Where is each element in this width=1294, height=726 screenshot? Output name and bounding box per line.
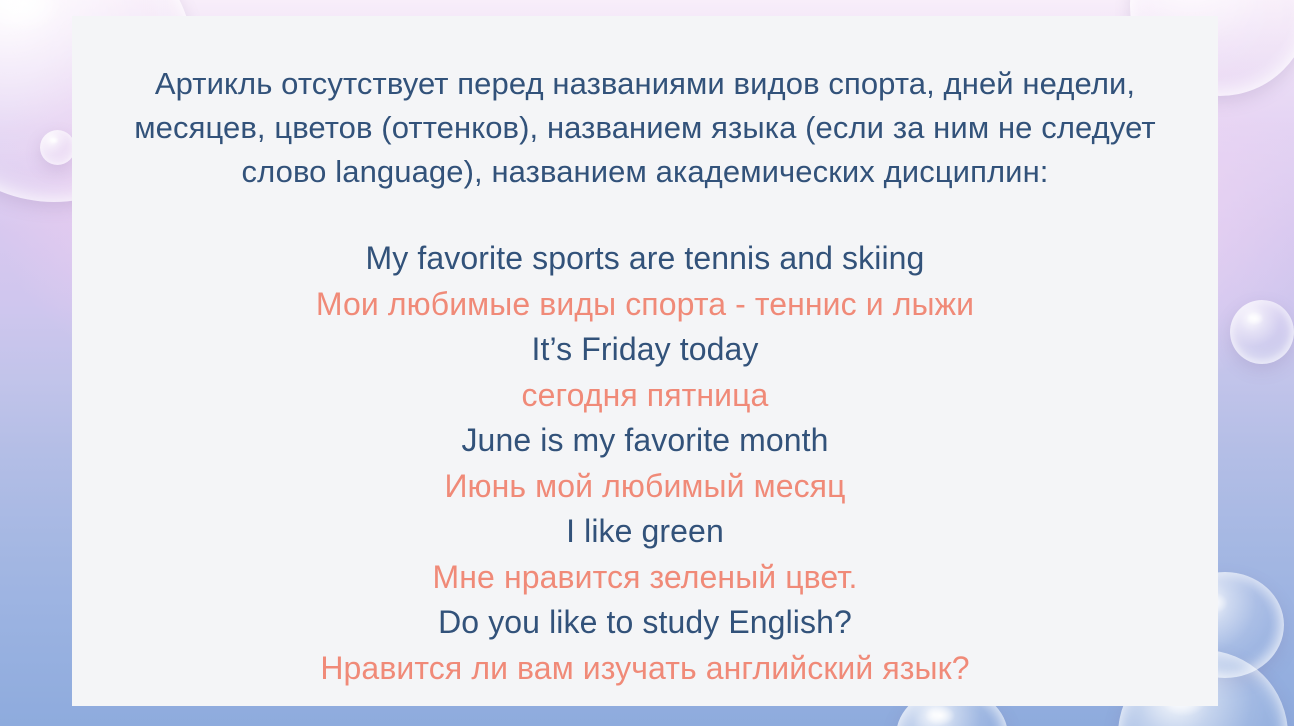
example-list: My favorite sports are tennis and skiing… [100,236,1190,691]
content-panel: Артикль отсутствует перед названиями вид… [72,16,1218,706]
example-line-russian: Июнь мой любимый месяц [100,464,1190,510]
heading-body-spacer [100,194,1190,236]
slide: Артикль отсутствует перед названиями вид… [0,0,1294,726]
example-line-english: It’s Friday today [100,327,1190,373]
bubble-decoration-icon [40,130,75,165]
example-line-english: My favorite sports are tennis and skiing [100,236,1190,282]
bubble-decoration-icon [1230,300,1294,364]
example-line-english: June is my favorite month [100,418,1190,464]
example-line-russian: Мои любимые виды спорта - теннис и лыжи [100,282,1190,328]
slide-heading: Артикль отсутствует перед названиями вид… [100,62,1190,194]
example-line-english: Do you like to study English? [100,600,1190,646]
example-line-russian: Нравится ли вам изучать английский язык? [100,646,1190,692]
example-line-russian: сегодня пятница [100,373,1190,419]
heading-line: слово language), названием академических… [100,150,1190,194]
example-line-russian: Мне нравится зеленый цвет. [100,555,1190,601]
example-line-english: I like green [100,509,1190,555]
heading-line: Артикль отсутствует перед названиями вид… [100,62,1190,106]
heading-line: месяцев, цветов (оттенков), названием яз… [100,106,1190,150]
